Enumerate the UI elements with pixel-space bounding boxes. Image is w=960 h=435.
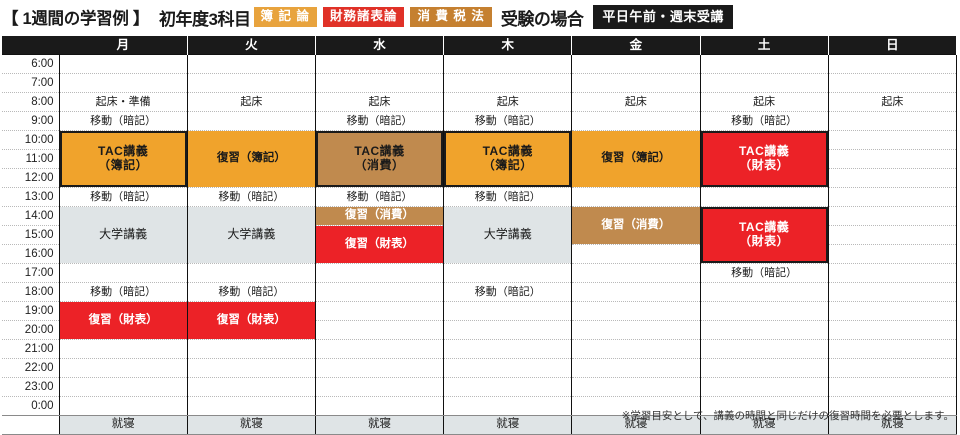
cell-thu-1900 — [444, 302, 572, 321]
cell-fri-2100 — [572, 340, 700, 359]
header-tail-text: 受験の場合 — [501, 5, 584, 30]
time-label-1100: 11:00 — [2, 150, 59, 169]
cell-mon-1700 — [59, 264, 187, 283]
entry-sat-1000: TAC講義 （財表） — [701, 131, 828, 187]
entry-fri-1000: 復習（簿記） — [572, 131, 699, 187]
cell-fri-1300 — [572, 188, 700, 207]
cell-tue-1700 — [187, 264, 315, 283]
cell-mon-2300 — [59, 378, 187, 397]
cell-wed-1800 — [315, 283, 443, 302]
time-label-1000: 10:00 — [2, 131, 59, 150]
cell-thu-2300 — [444, 378, 572, 397]
cell-sun-1100 — [828, 150, 956, 169]
entry-mon-1900: 復習（財表） — [60, 302, 187, 339]
cell-sun-1700 — [828, 264, 956, 283]
cell-sun-1900 — [828, 302, 956, 321]
table-row: 9:00 移動（暗記） 移動（暗記） 移動（暗記） 移動（暗記） — [2, 112, 957, 131]
day-header-tue: 火 — [187, 36, 315, 55]
cell-wed-0800: 起床 — [315, 93, 443, 112]
cell-fri-1700 — [572, 264, 700, 283]
cell-thu-0800: 起床 — [444, 93, 572, 112]
entry-tue-1000: 復習（簿記） — [188, 131, 315, 187]
cell-sun-0800: 起床 — [828, 93, 956, 112]
header-subtitle: 初年度3科目 — [159, 5, 250, 30]
cell-wed-0900: 移動（暗記） — [315, 112, 443, 131]
cell-thu-1800: 移動（暗記） — [444, 283, 572, 302]
entry-sat-1700: 移動（暗記） — [701, 264, 828, 282]
page-header: 【 1週間の学習例 】 初年度3科目 簿 記 論 財務諸表論 消 費 税 法 受… — [0, 0, 960, 34]
entry-tue-1400: 大学講義 — [188, 207, 315, 263]
entry-tue-1800: 移動（暗記） — [188, 283, 315, 301]
entry-wed-1400: 復習（消費） — [316, 207, 443, 225]
cell-sun-2100 — [828, 340, 956, 359]
entry-thu-0800: 起床 — [444, 93, 571, 111]
time-label-1400: 14:00 — [2, 207, 59, 226]
cell-sat-1800 — [700, 283, 828, 302]
cell-thu-2000 — [444, 321, 572, 340]
subject-chip-financial-statements: 財務諸表論 — [323, 7, 405, 27]
time-label-1500: 15:00 — [2, 226, 59, 245]
cell-thu-0600 — [444, 55, 572, 74]
cell-sat-2300 — [700, 378, 828, 397]
entry-tue-0800: 起床 — [188, 93, 315, 111]
entry-wed-0800: 起床 — [316, 93, 443, 111]
cell-fri-0600 — [572, 55, 700, 74]
cell-sun-2300 — [828, 378, 956, 397]
time-label-2200: 22:00 — [2, 359, 59, 378]
cell-sat-2100 — [700, 340, 828, 359]
cell-fri-1900 — [572, 302, 700, 321]
time-label-1700: 17:00 — [2, 264, 59, 283]
cell-wed-2100 — [315, 340, 443, 359]
entry-thu-1800: 移動（暗記） — [444, 283, 571, 301]
cell-tue-1900: 復習（財表） — [187, 302, 315, 340]
cell-wed-2300 — [315, 378, 443, 397]
cell-wed-0700 — [315, 74, 443, 93]
entry-tue-1900: 復習（財表） — [188, 302, 315, 339]
cell-mon-1300: 移動（暗記） — [59, 188, 187, 207]
study-schedule-page: 【 1週間の学習例 】 初年度3科目 簿 記 論 財務諸表論 消 費 税 法 受… — [0, 0, 960, 429]
table-row: 10:00 TAC講義 （簿記） 復習（簿記） TAC講義 （消費） TAC講義… — [2, 131, 957, 150]
time-label-1800: 18:00 — [2, 283, 59, 302]
time-label-1200: 12:00 — [2, 169, 59, 188]
cell-wed-1300: 移動（暗記） — [315, 188, 443, 207]
cell-fri-0800: 起床 — [572, 93, 700, 112]
cell-wed-0600 — [315, 55, 443, 74]
cell-mon-0600 — [59, 55, 187, 74]
entry-mon-0900: 移動（暗記） — [60, 112, 187, 130]
cell-wed-1000: TAC講義 （消費） — [315, 131, 443, 188]
cell-mon-1800: 移動（暗記） — [59, 283, 187, 302]
day-header-mon: 月 — [59, 36, 187, 55]
table-row: 21:00 — [2, 340, 957, 359]
cell-sat-0600 — [700, 55, 828, 74]
time-label-2300: 23:00 — [2, 378, 59, 397]
day-header-wed: 水 — [315, 36, 443, 55]
time-label-0000: 0:00 — [2, 397, 59, 416]
footnote: ※学習目安として、講義の時間と同じだけの復習時間を必要とします。 — [622, 408, 954, 423]
cell-mon-2100 — [59, 340, 187, 359]
cell-sun-0700 — [828, 74, 956, 93]
cell-sun-1500 — [828, 226, 956, 245]
cell-mon-2200 — [59, 359, 187, 378]
cell-tue-sleep: 就寝 — [187, 416, 315, 435]
cell-wed-2200 — [315, 359, 443, 378]
time-label-0800: 8:00 — [2, 93, 59, 112]
cell-sun-1600 — [828, 245, 956, 264]
cell-wed-1400: 復習（消費） — [315, 207, 443, 226]
entry-wed-1000: TAC講義 （消費） — [316, 131, 443, 187]
cell-fri-0700 — [572, 74, 700, 93]
table-row: 23:00 — [2, 378, 957, 397]
table-row: 14:00 大学講義 大学講義 復習（消費） 大学講義 復習（消費） TAC講義… — [2, 207, 957, 226]
cell-mon-0700 — [59, 74, 187, 93]
cell-sun-1800 — [828, 283, 956, 302]
cell-sun-2200 — [828, 359, 956, 378]
cell-wed-sleep: 就寝 — [315, 416, 443, 435]
day-header-thu: 木 — [444, 36, 572, 55]
cell-tue-1000: 復習（簿記） — [187, 131, 315, 188]
entry-wed-sleep: 就寝 — [316, 416, 443, 434]
entry-wed-1300: 移動（暗記） — [316, 188, 443, 206]
cell-thu-1700 — [444, 264, 572, 283]
cell-fri-0900 — [572, 112, 700, 131]
cell-mon-1400: 大学講義 — [59, 207, 187, 264]
entry-sun-0800: 起床 — [829, 93, 956, 111]
cell-sun-0600 — [828, 55, 956, 74]
cell-fri-1800 — [572, 283, 700, 302]
entry-thu-1400: 大学講義 — [444, 207, 571, 263]
cell-fri-2300 — [572, 378, 700, 397]
cell-mon-0900: 移動（暗記） — [59, 112, 187, 131]
cell-sun-1400 — [828, 207, 956, 226]
cell-sat-0800: 起床 — [700, 93, 828, 112]
time-label-1600: 16:00 — [2, 245, 59, 264]
table-row: 22:00 — [2, 359, 957, 378]
cell-sun-1000 — [828, 131, 956, 150]
entry-mon-1000: TAC講義 （簿記） — [60, 131, 187, 187]
cell-tue-1400: 大学講義 — [187, 207, 315, 264]
cell-wed-2000 — [315, 321, 443, 340]
entry-fri-0800: 起床 — [572, 93, 699, 111]
cell-sat-1300 — [700, 188, 828, 207]
entry-wed-1500: 復習（財表） — [316, 226, 443, 263]
cell-sat-1400: TAC講義 （財表） — [700, 207, 828, 264]
cell-tue-2200 — [187, 359, 315, 378]
cell-sat-2200 — [700, 359, 828, 378]
cell-thu-1000: TAC講義 （簿記） — [444, 131, 572, 188]
cell-sat-1000: TAC講義 （財表） — [700, 131, 828, 188]
time-label-1900: 19:00 — [2, 302, 59, 321]
table-row: 8:00 起床・準備 起床 起床 起床 起床 起床 起床 — [2, 93, 957, 112]
entry-mon-sleep: 就寝 — [60, 416, 187, 434]
entry-thu-1000: TAC講義 （簿記） — [444, 131, 571, 187]
cell-sat-0900: 移動（暗記） — [700, 112, 828, 131]
table-row: 6:00 — [2, 55, 957, 74]
cell-thu-0700 — [444, 74, 572, 93]
entry-thu-1300: 移動（暗記） — [444, 188, 571, 206]
cell-fri-1600 — [572, 245, 700, 264]
cell-fri-2000 — [572, 321, 700, 340]
time-label-1300: 13:00 — [2, 188, 59, 207]
cell-tue-0900 — [187, 112, 315, 131]
entry-mon-1800: 移動（暗記） — [60, 283, 187, 301]
cell-sat-2000 — [700, 321, 828, 340]
cell-sun-2000 — [828, 321, 956, 340]
day-header-sun: 日 — [828, 36, 956, 55]
cell-mon-sleep: 就寝 — [59, 416, 187, 435]
cell-mon-1900: 復習（財表） — [59, 302, 187, 340]
cell-thu-sleep: 就寝 — [444, 416, 572, 435]
entry-tue-1300: 移動（暗記） — [188, 188, 315, 206]
cell-tue-0600 — [187, 55, 315, 74]
cell-tue-1300: 移動（暗記） — [187, 188, 315, 207]
cell-tue-2300 — [187, 378, 315, 397]
cell-wed-0000 — [315, 397, 443, 416]
day-header-sat: 土 — [700, 36, 828, 55]
page-title: 【 1週間の学習例 】 — [2, 5, 149, 29]
entry-sat-0900: 移動（暗記） — [701, 112, 828, 130]
cell-tue-0700 — [187, 74, 315, 93]
table-header-row: 月 火 水 木 金 土 日 — [2, 36, 957, 55]
cell-fri-1400: 復習（消費） — [572, 207, 700, 245]
entry-thu-0900: 移動（暗記） — [444, 112, 571, 130]
entry-wed-0900: 移動（暗記） — [316, 112, 443, 130]
table-row: 7:00 — [2, 74, 957, 93]
cell-tue-1800: 移動（暗記） — [187, 283, 315, 302]
entry-sat-1400: TAC講義 （財表） — [701, 207, 828, 263]
subject-chip-consumption-tax: 消 費 税 法 — [410, 7, 491, 27]
entry-fri-1400: 復習（消費） — [572, 207, 699, 244]
cell-tue-2100 — [187, 340, 315, 359]
sleep-row-time-blank — [2, 416, 59, 435]
cell-mon-0800: 起床・準備 — [59, 93, 187, 112]
time-label-0600: 6:00 — [2, 55, 59, 74]
entry-mon-1400: 大学講義 — [60, 207, 187, 263]
entry-mon-1300: 移動（暗記） — [60, 188, 187, 206]
cell-fri-1000: 復習（簿記） — [572, 131, 700, 188]
cell-sun-1200 — [828, 169, 956, 188]
cell-tue-0000 — [187, 397, 315, 416]
table-row: 19:00 復習（財表） 復習（財表） — [2, 302, 957, 321]
cell-thu-0000 — [444, 397, 572, 416]
weekly-schedule-table: 月 火 水 木 金 土 日 6:00 — [2, 36, 957, 435]
cell-thu-2200 — [444, 359, 572, 378]
subject-chip-bookkeeping: 簿 記 論 — [254, 7, 317, 27]
time-label-2000: 20:00 — [2, 321, 59, 340]
table-row: 18:00 移動（暗記） 移動（暗記） 移動（暗記） — [2, 283, 957, 302]
cell-mon-1000: TAC講義 （簿記） — [59, 131, 187, 188]
time-label-2100: 21:00 — [2, 340, 59, 359]
entry-mon-0800: 起床・準備 — [60, 93, 187, 111]
cell-sun-0900 — [828, 112, 956, 131]
cell-thu-1300: 移動（暗記） — [444, 188, 572, 207]
cell-sat-1700: 移動（暗記） — [700, 264, 828, 283]
table-row: 13:00 移動（暗記） 移動（暗記） 移動（暗記） 移動（暗記） — [2, 188, 957, 207]
cell-wed-1900 — [315, 302, 443, 321]
cell-tue-0800: 起床 — [187, 93, 315, 112]
cell-mon-0000 — [59, 397, 187, 416]
cell-wed-1500: 復習（財表） — [315, 226, 443, 264]
entry-sat-0800: 起床 — [701, 93, 828, 111]
cell-sun-1300 — [828, 188, 956, 207]
cell-sat-1900 — [700, 302, 828, 321]
cell-fri-2200 — [572, 359, 700, 378]
entry-thu-sleep: 就寝 — [444, 416, 571, 434]
day-header-fri: 金 — [572, 36, 700, 55]
entry-tue-sleep: 就寝 — [188, 416, 315, 434]
schedule-type-badge: 平日午前・週末受講 — [593, 5, 733, 29]
time-label-0900: 9:00 — [2, 112, 59, 131]
cell-thu-0900: 移動（暗記） — [444, 112, 572, 131]
table-corner-cell — [2, 36, 59, 55]
cell-sat-0700 — [700, 74, 828, 93]
cell-wed-1700 — [315, 264, 443, 283]
table-row: 17:00 移動（暗記） — [2, 264, 957, 283]
cell-thu-1400: 大学講義 — [444, 207, 572, 264]
time-label-0700: 7:00 — [2, 74, 59, 93]
cell-thu-2100 — [444, 340, 572, 359]
